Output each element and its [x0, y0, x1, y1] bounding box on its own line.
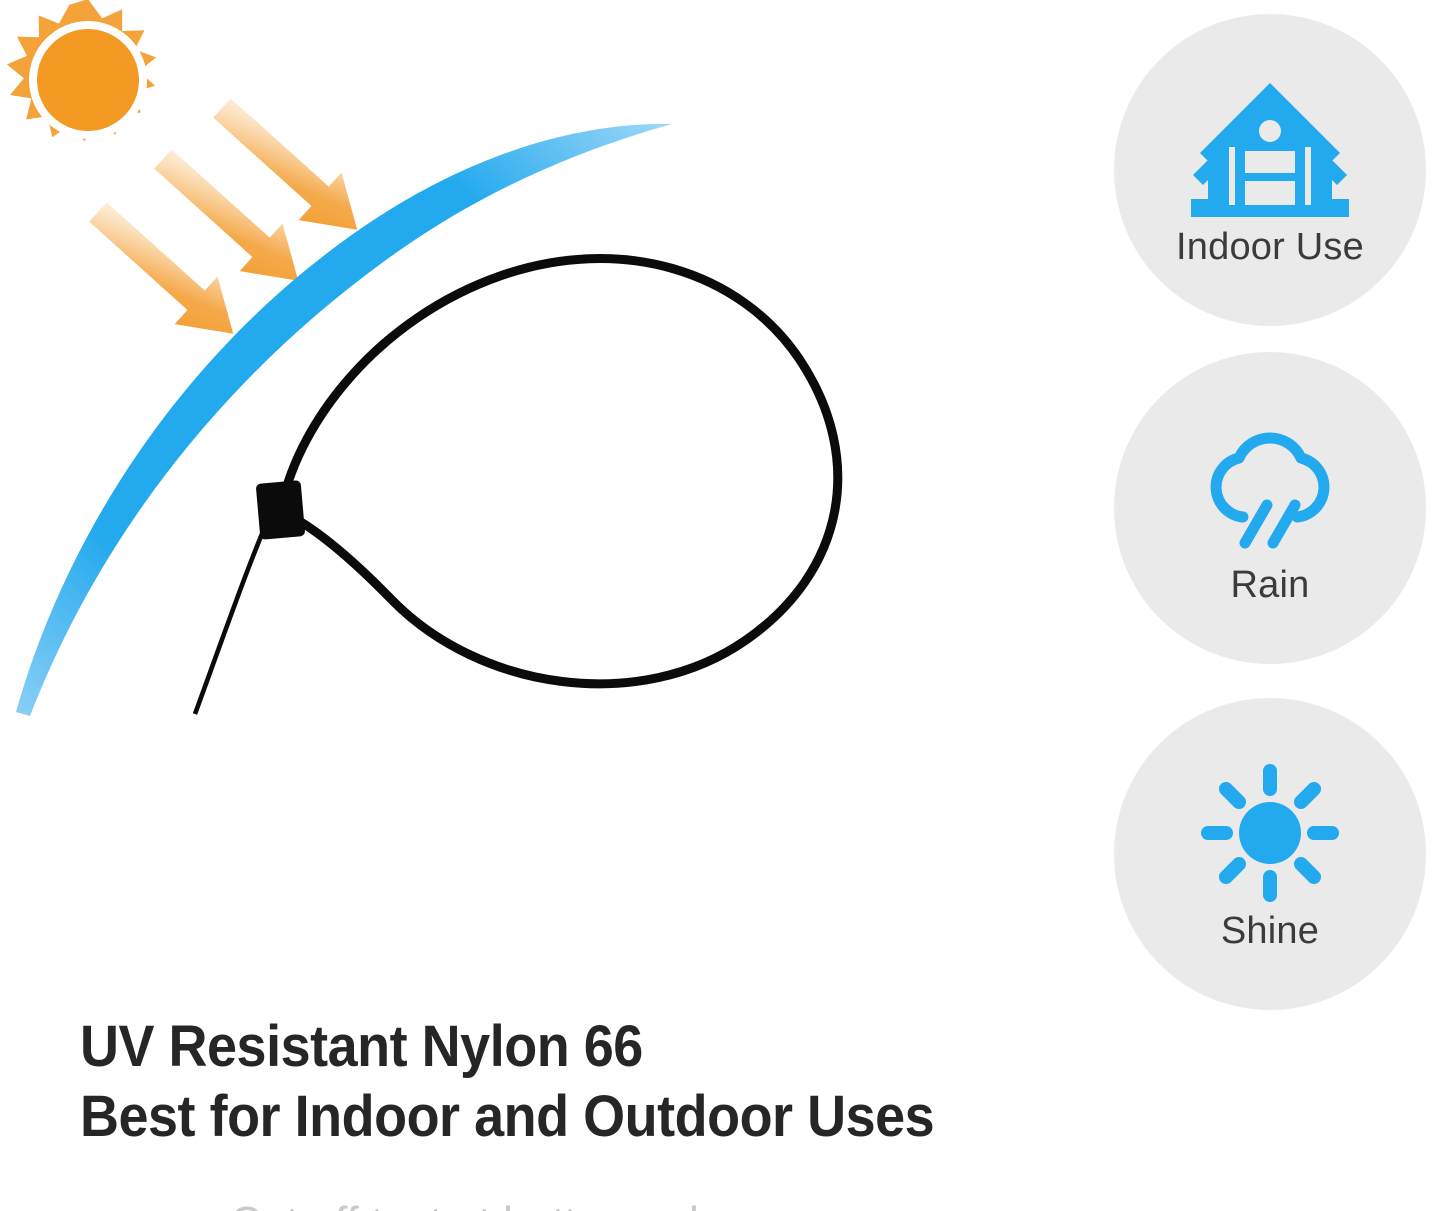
feature-badge-rail: Indoor Use Rain: [1108, 0, 1432, 1020]
cut-off-text-sliver: Cut off text at bottom edge: [230, 1200, 930, 1211]
feature-badge-label: Shine: [1221, 912, 1319, 950]
headline-block: UV Resistant Nylon 66 Best for Indoor an…: [80, 1012, 1080, 1152]
feature-badge-label: Indoor Use: [1176, 228, 1364, 266]
sun-shine-icon: [1185, 758, 1355, 908]
headline-line-1: UV Resistant Nylon 66: [80, 1012, 1010, 1082]
rain-cloud-icon: [1185, 412, 1355, 562]
house-icon: [1185, 74, 1355, 224]
infographic-canvas: Indoor Use Rain: [0, 0, 1432, 1211]
uv-illustration: [0, 0, 1090, 1000]
feature-badge-rain[interactable]: Rain: [1114, 352, 1426, 664]
headline-line-2: Best for Indoor and Outdoor Uses: [80, 1082, 1010, 1152]
sun-burst-icon: [7, 0, 156, 141]
feature-badge-label: Rain: [1231, 566, 1310, 604]
feature-badge-indoor-use[interactable]: Indoor Use: [1114, 14, 1426, 326]
feature-badge-shine[interactable]: Shine: [1114, 698, 1426, 1010]
